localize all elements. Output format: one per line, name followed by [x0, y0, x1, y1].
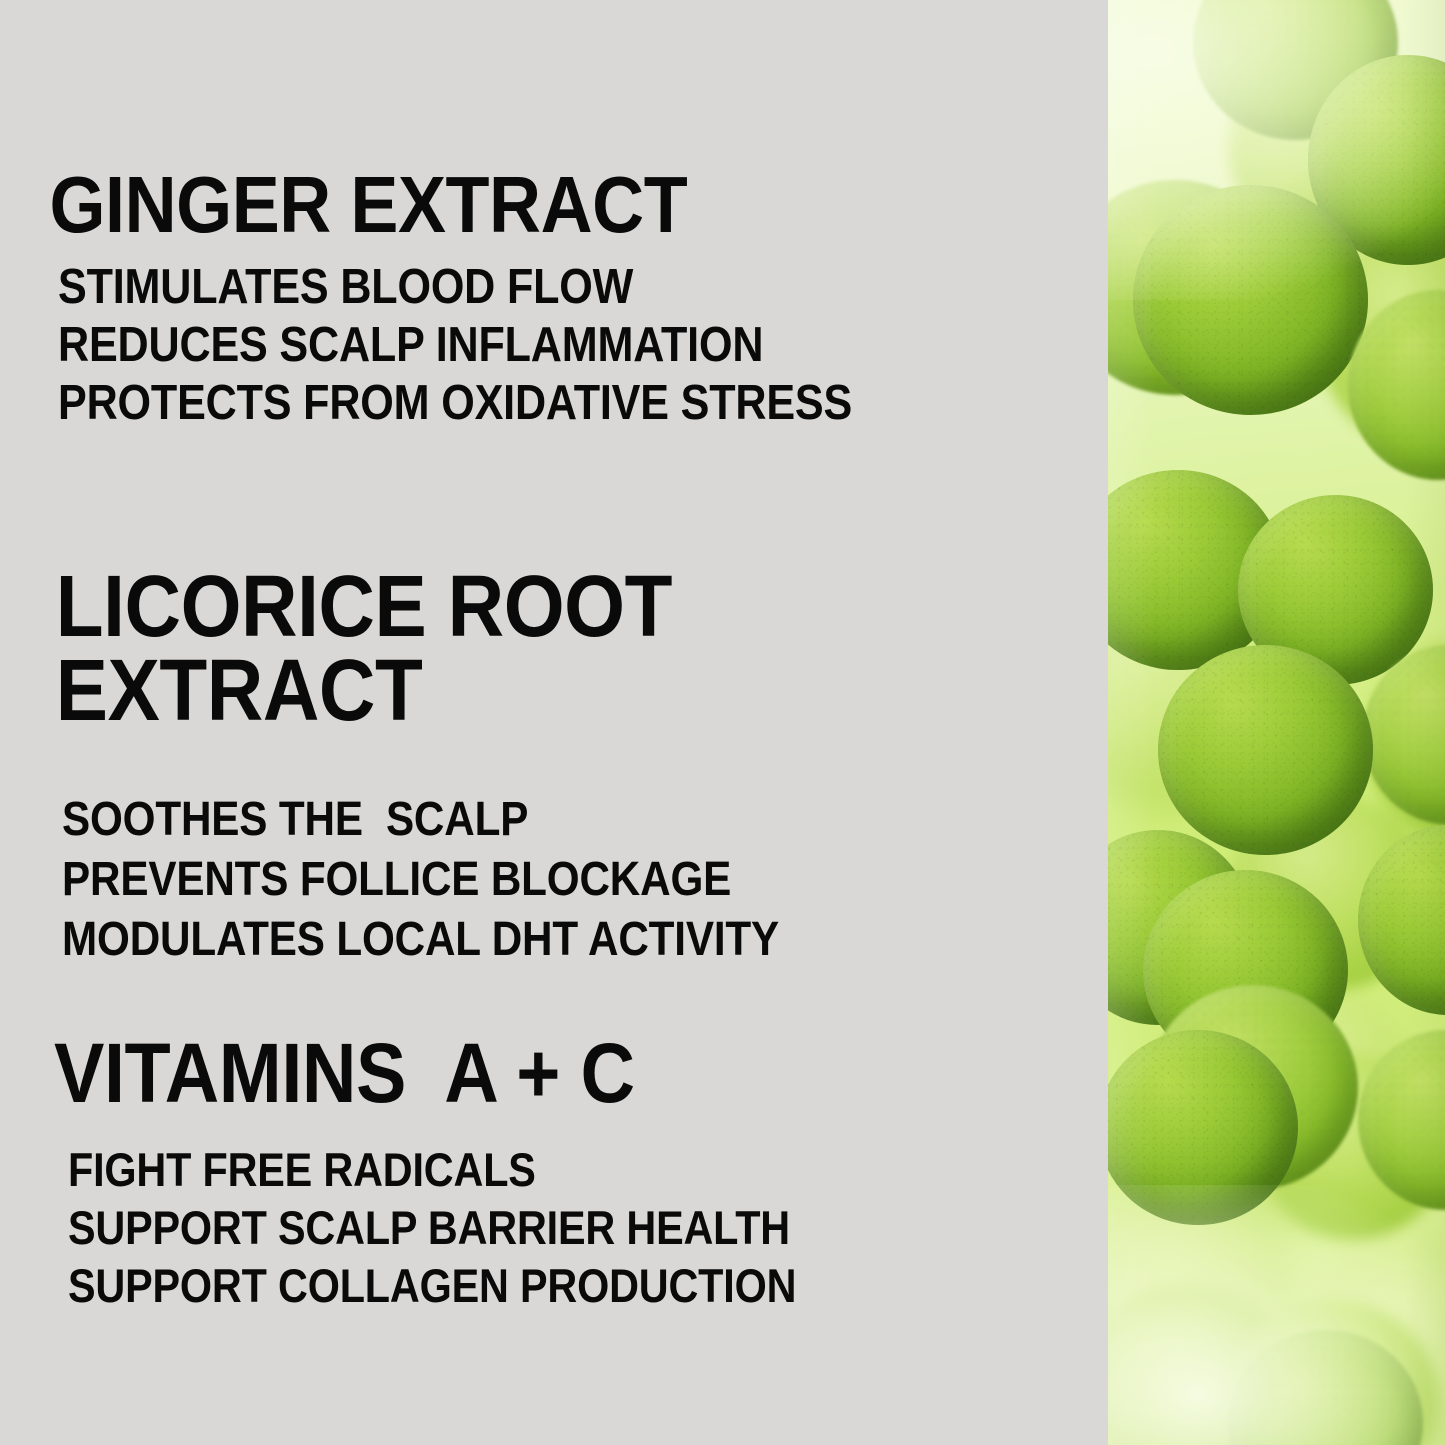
benefit-item: MODULATES LOCAL DHT ACTIVITY: [62, 910, 940, 970]
benefit-list-licorice-root: SOOTHES THE SCALP PREVENTS FOLLICE BLOCK…: [0, 790, 1060, 970]
benefit-item: REDUCES SCALP INFLAMMATION: [58, 316, 940, 374]
benefit-item: STIMULATES BLOOD FLOW: [58, 258, 940, 316]
ingredient-heading-ginger: GINGER EXTRACT: [0, 162, 954, 248]
ingredient-block-ginger: GINGER EXTRACT STIMULATES BLOOD FLOW RED…: [0, 162, 1060, 432]
green-citrus-photo: [1108, 0, 1445, 1445]
orb-sharp: [1158, 645, 1373, 855]
benefit-list-ginger: STIMULATES BLOOD FLOW REDUCES SCALP INFL…: [0, 258, 1060, 432]
benefit-list-vitamins: FIGHT FREE RADICALS SUPPORT SCALP BARRIE…: [0, 1141, 1060, 1315]
ingredient-heading-vitamins: VITAMINS A + C: [0, 1028, 954, 1119]
ingredient-block-vitamins: VITAMINS A + C FIGHT FREE RADICALS SUPPO…: [0, 1028, 1060, 1315]
benefit-item: PREVENTS FOLLICE BLOCKAGE: [62, 850, 940, 910]
orb-sharp: [1133, 185, 1368, 415]
ingredient-poster: GINGER EXTRACT STIMULATES BLOOD FLOW RED…: [0, 0, 1445, 1445]
benefit-item: PROTECTS FROM OXIDATIVE STRESS: [58, 374, 940, 432]
benefit-item: FIGHT FREE RADICALS: [68, 1141, 941, 1199]
ingredient-block-licorice-root: LICORICE ROOT EXTRACT SOOTHES THE SCALP …: [0, 565, 1060, 970]
benefit-item: SUPPORT COLLAGEN PRODUCTION: [68, 1257, 941, 1315]
ingredient-text-panel: GINGER EXTRACT STIMULATES BLOOD FLOW RED…: [0, 0, 1108, 1445]
benefit-item: SUPPORT SCALP BARRIER HEALTH: [68, 1199, 941, 1257]
ingredient-heading-licorice-root: LICORICE ROOT EXTRACT: [0, 565, 686, 732]
benefit-item: SOOTHES THE SCALP: [62, 790, 940, 850]
